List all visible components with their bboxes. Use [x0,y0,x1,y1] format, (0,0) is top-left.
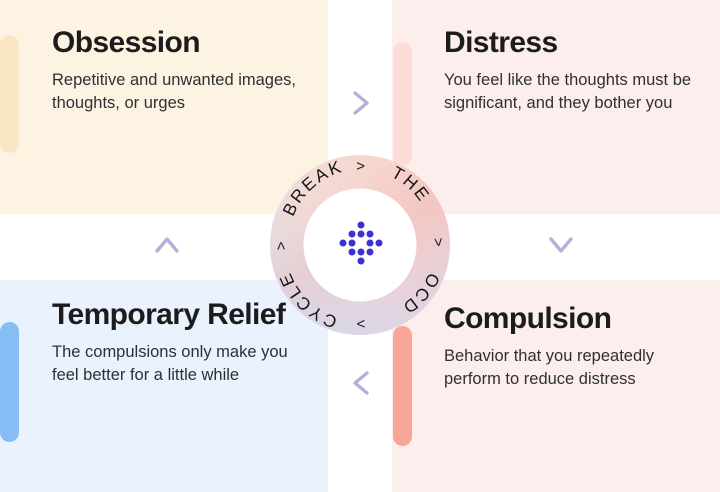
ring-separator-4: > [273,241,290,250]
accent-bar-distress [393,42,412,166]
accent-bar-obsession [0,35,19,153]
card-body-distress: Distress You feel like the thoughts must… [444,26,706,115]
ring-separator-1: > [356,158,365,175]
card-description-obsession: Repetitive and unwanted images, thoughts… [52,69,322,116]
chevron-left-icon [348,368,374,398]
card-title-distress: Distress [444,26,706,60]
card-description-distress: You feel like the thoughts must be signi… [444,69,706,116]
ring-separator-2: > [429,237,447,247]
card-body-compulsion: Compulsion Behavior that you repeatedly … [444,302,706,391]
chevron-up-icon [152,232,182,258]
card-description-temporary-relief: The compulsions only make you feel bette… [52,341,318,388]
diamond-dot-cluster-icon [339,221,383,265]
ocd-cycle-infographic: Obsession Repetitive and unwanted images… [0,0,720,492]
card-title-obsession: Obsession [52,26,322,60]
chevron-down-icon [546,232,576,258]
chevron-right-icon [348,88,374,118]
ring-separator-3: > [356,315,366,332]
card-body-obsession: Obsession Repetitive and unwanted images… [52,26,322,115]
card-title-compulsion: Compulsion [444,302,706,336]
accent-bar-temporary-relief [0,322,19,442]
card-description-compulsion: Behavior that you repeatedly perform to … [444,345,706,392]
accent-bar-compulsion [393,326,412,446]
